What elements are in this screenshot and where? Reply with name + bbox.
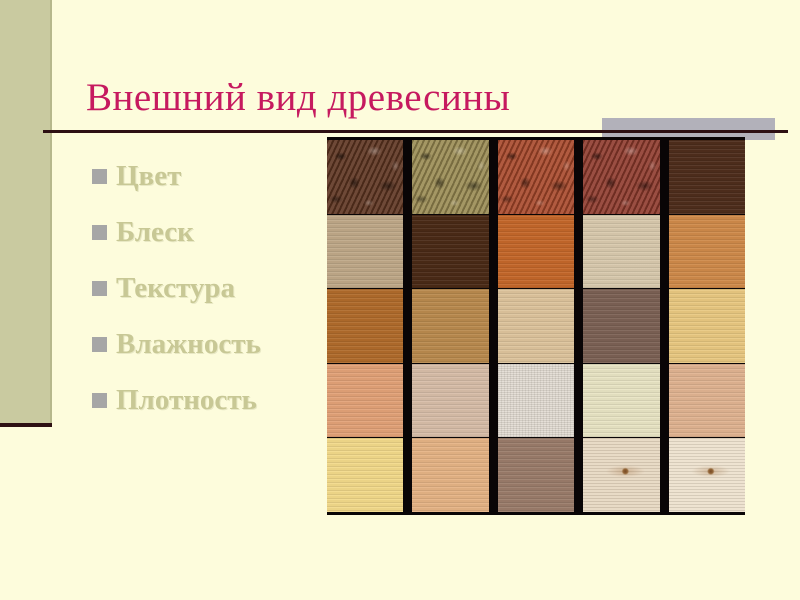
wood-column-2 [412,140,488,512]
bullet-label: Плотность [116,386,257,415]
wood-column-5 [669,140,745,512]
list-item[interactable]: Текстура [92,260,342,316]
square-bullet-icon [92,225,107,240]
wood-swatch-salmon-peach [327,364,403,438]
wood-swatch-burl-dark-brown [327,140,403,214]
wood-swatch-light-tan-grain [327,215,403,289]
wood-swatch-medium-tan-brown [412,289,488,363]
list-item[interactable]: Блеск [92,204,342,260]
list-item[interactable]: Цвет [92,148,342,204]
wood-column-1 [327,140,403,512]
wood-swatch-grey-brown-striped [498,438,574,512]
square-bullet-icon [92,281,107,296]
wood-swatch-smoked-grey-brown [583,289,659,363]
square-bullet-icon [92,393,107,408]
slide-title: Внешний вид древесины [86,74,726,122]
wood-swatch-light-golden-yellow [669,289,745,363]
left-decorative-band [0,0,50,425]
wood-swatch-burl-dark-red-white [583,140,659,214]
wood-samples-image [327,137,745,515]
wood-swatch-knotty-pine-pale [583,438,659,512]
left-band-edge-line [50,0,52,425]
wood-swatch-golden-brown [327,289,403,363]
wood-swatch-pale-white-maple [498,364,574,438]
wood-swatch-dark-striped-ebony [669,140,745,214]
wood-column-4 [583,140,659,512]
wood-swatch-orange-tan [669,215,745,289]
wood-swatch-pale-cream-yellow [583,364,659,438]
wood-swatch-pale-cream [583,215,659,289]
wood-swatch-burl-olive-gold [412,140,488,214]
left-band-bottom-rule [0,423,52,427]
slide-canvas: Внешний вид древесины Цвет Блеск Текстур… [0,0,800,600]
wood-swatch-warm-yellow [327,438,403,512]
bullet-label: Блеск [116,218,194,247]
list-item[interactable]: Влажность [92,316,342,372]
wood-swatch-orange-cherry [498,215,574,289]
wood-swatch-light-tan-orange [412,438,488,512]
square-bullet-icon [92,337,107,352]
wood-swatch-light-salmon-tan [669,364,745,438]
bullet-label: Текстура [116,274,235,303]
wood-swatch-burl-red-orange [498,140,574,214]
wood-swatch-light-cream-beige [498,289,574,363]
bullet-label: Влажность [116,330,261,359]
wood-swatch-dark-walnut [412,215,488,289]
bullet-list: Цвет Блеск Текстура Влажность Плотность [92,148,342,428]
list-item[interactable]: Плотность [92,372,342,428]
square-bullet-icon [92,169,107,184]
bullet-label: Цвет [116,162,181,191]
wood-swatch-pink-grey-beech [412,364,488,438]
wood-column-3 [498,140,574,512]
wood-swatch-knotty-pine-light [669,438,745,512]
title-underline-rule [43,130,788,133]
